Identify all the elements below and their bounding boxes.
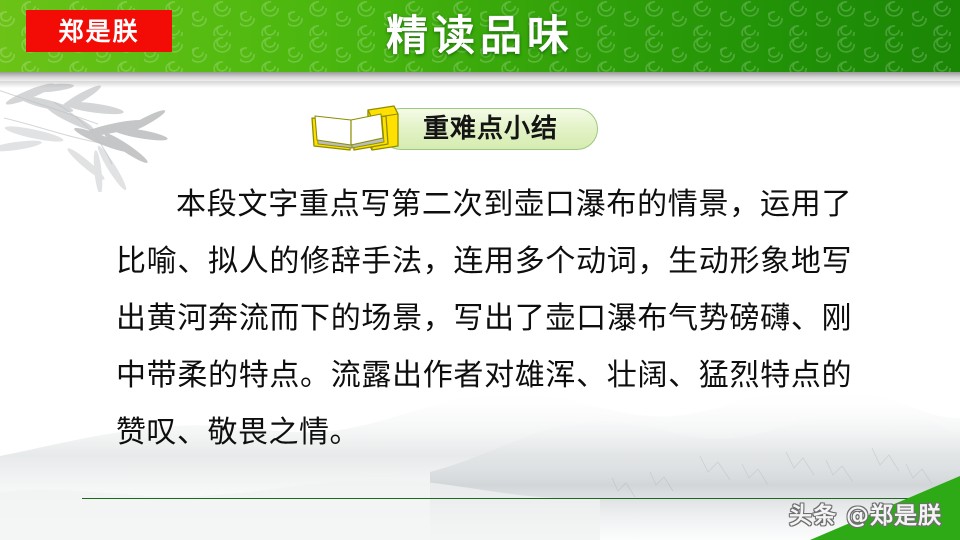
header-banner: 精读品味 郑是朕	[0, 0, 960, 72]
author-logo-badge: 郑是朕	[26, 10, 172, 52]
section-badge: 重难点小结	[306, 102, 598, 156]
section-badge-label: 重难点小结	[423, 116, 558, 142]
page-title-text: 精读品味	[386, 15, 574, 57]
open-book-icon	[306, 102, 402, 156]
body-content: 本段文字重点写第二次到壶口瀑布的情景，运用了比喻、拟人的修辞手法，连用多个动词，…	[116, 176, 852, 461]
header-underline-strip	[0, 72, 960, 81]
watermark-text: 头条 @郑是朕	[789, 496, 942, 530]
summary-paragraph: 本段文字重点写第二次到壶口瀑布的情景，运用了比喻、拟人的修辞手法，连用多个动词，…	[116, 176, 852, 461]
author-logo-text: 郑是朕	[58, 19, 139, 44]
section-badge-pill: 重难点小结	[380, 108, 598, 150]
bamboo-leaves-icon	[0, 72, 224, 192]
slide-canvas: 精读品味 郑是朕	[0, 0, 960, 540]
